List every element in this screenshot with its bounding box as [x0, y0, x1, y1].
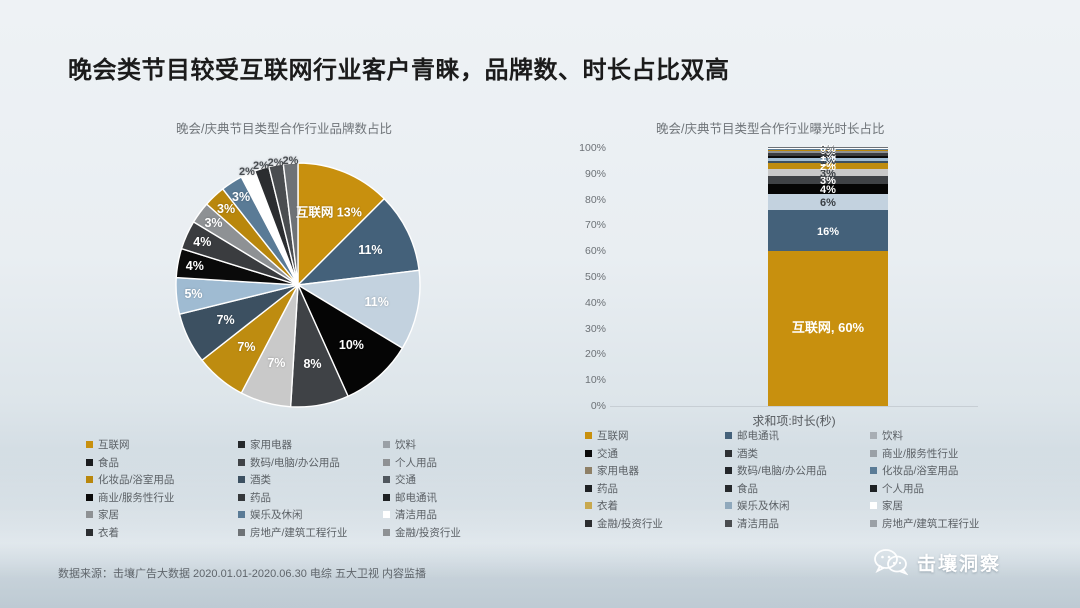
pie-slice-label: 3% — [232, 190, 250, 204]
pie-slice-label: 2% — [283, 155, 299, 167]
pie-slice-label: 5% — [184, 287, 202, 301]
pie-slice-label: 11% — [365, 295, 389, 309]
legend-swatch-icon — [725, 520, 732, 527]
legend-item[interactable]: 娱乐及休闲 — [725, 497, 870, 515]
pie-slice-label: 7% — [237, 340, 255, 354]
legend-swatch-icon — [383, 511, 390, 518]
legend-label: 家居 — [98, 507, 119, 522]
bar-y-axis: 0%10%20%30%40%50%60%70%80%90%100% — [560, 148, 606, 406]
legend-item[interactable]: 个人用品 — [383, 454, 461, 472]
legend-label: 化妆品/浴室用品 — [98, 472, 174, 487]
legend-item[interactable]: 房地产/建筑工程行业 — [870, 515, 979, 533]
legend-swatch-icon — [238, 494, 245, 501]
y-axis-tick: 60% — [566, 245, 606, 257]
pie-slice-label: 11% — [358, 243, 382, 257]
y-axis-tick: 10% — [566, 374, 606, 386]
legend-item[interactable]: 清洁用品 — [383, 506, 461, 524]
legend-item[interactable]: 饮料 — [383, 436, 461, 454]
legend-swatch-icon — [870, 467, 877, 474]
legend-swatch-icon — [585, 520, 592, 527]
legend-label: 娱乐及休闲 — [250, 507, 303, 522]
right-chart-subtitle: 晚会/庆典节目类型合作行业曝光时长占比 — [656, 118, 884, 137]
legend-item[interactable]: 数码/电脑/办公用品 — [725, 462, 870, 480]
data-source-footer: 数据来源：击壤广告大数据 2020.01.01-2020.06.30 电综 五大… — [58, 565, 426, 581]
legend-item[interactable]: 家用电器 — [238, 436, 383, 454]
legend-item[interactable]: 邮电通讯 — [383, 489, 461, 507]
legend-swatch-icon — [725, 485, 732, 492]
legend-label: 家居 — [882, 498, 903, 513]
pie-slice-label: 2% — [253, 160, 269, 172]
legend-swatch-icon — [870, 450, 877, 457]
legend-swatch-icon — [725, 467, 732, 474]
legend-item[interactable]: 娱乐及休闲 — [238, 506, 383, 524]
bar-segment-label: 互联网, 60% — [768, 317, 888, 336]
legend-item[interactable]: 食品 — [725, 480, 870, 498]
legend-swatch-icon — [86, 529, 93, 536]
bar-plot-area: 互联网, 60%16%6%4%3%3%2%1%1%1%1%1%0%0%0%0% — [610, 148, 980, 406]
legend-swatch-icon — [86, 476, 93, 483]
legend-item[interactable]: 商业/服务性行业 — [870, 445, 979, 463]
pie-slice-label: 3% — [204, 216, 222, 230]
legend-item[interactable]: 食品 — [86, 454, 238, 472]
bar-segment — [768, 147, 888, 148]
pie-slice-label: 7% — [267, 356, 285, 370]
y-axis-tick: 20% — [566, 348, 606, 360]
legend-item[interactable]: 互联网 — [585, 427, 725, 445]
legend-item[interactable]: 饮料 — [870, 427, 979, 445]
legend-label: 衣着 — [98, 525, 119, 540]
legend-swatch-icon — [725, 450, 732, 457]
y-axis-tick: 90% — [566, 168, 606, 180]
pie-slice-label: 4% — [193, 235, 211, 249]
legend-label: 食品 — [98, 455, 119, 470]
legend-item[interactable]: 酒类 — [238, 471, 383, 489]
y-axis-tick: 80% — [566, 194, 606, 206]
legend-swatch-icon — [870, 485, 877, 492]
bar-segment-label: 0% — [768, 143, 888, 155]
legend-label: 食品 — [737, 481, 758, 496]
legend-label: 清洁用品 — [737, 516, 779, 531]
legend-item[interactable]: 个人用品 — [870, 480, 979, 498]
legend-label: 房地产/建筑工程行业 — [882, 516, 979, 531]
legend-swatch-icon — [585, 502, 592, 509]
bar-legend: 互联网交通家用电器药品衣着金融/投资行业邮电通讯酒类数码/电脑/办公用品食品娱乐… — [585, 427, 979, 532]
legend-swatch-icon — [383, 529, 390, 536]
legend-column: 饮料商业/服务性行业化妆品/浴室用品个人用品家居房地产/建筑工程行业 — [870, 427, 979, 532]
pie-svg — [148, 160, 448, 410]
legend-swatch-icon — [86, 459, 93, 466]
legend-label: 酒类 — [737, 446, 758, 461]
legend-swatch-icon — [383, 459, 390, 466]
legend-swatch-icon — [238, 441, 245, 448]
legend-column: 家用电器数码/电脑/办公用品酒类药品娱乐及休闲房地产/建筑工程行业 — [238, 436, 383, 541]
legend-swatch-icon — [238, 511, 245, 518]
y-axis-tick: 100% — [566, 142, 606, 154]
legend-swatch-icon — [585, 485, 592, 492]
wechat-bubble-icon — [874, 548, 908, 576]
legend-column: 互联网交通家用电器药品衣着金融/投资行业 — [585, 427, 725, 532]
legend-item[interactable]: 家居 — [870, 497, 979, 515]
legend-swatch-icon — [383, 494, 390, 501]
legend-label: 商业/服务性行业 — [882, 446, 958, 461]
legend-swatch-icon — [870, 432, 877, 439]
legend-swatch-icon — [585, 467, 592, 474]
pie-slice-label: 8% — [303, 357, 321, 371]
pie-slice-label: 7% — [217, 313, 235, 327]
legend-item[interactable]: 衣着 — [585, 497, 725, 515]
legend-item[interactable]: 交通 — [585, 445, 725, 463]
legend-label: 酒类 — [250, 472, 271, 487]
pie-slice-label: 4% — [186, 259, 204, 273]
legend-column: 邮电通讯酒类数码/电脑/办公用品食品娱乐及休闲清洁用品 — [725, 427, 870, 532]
brand-share-pie-chart: 互联网 13%11%11%10%8%7%7%7%5%4%4%3%3%3%2%2%… — [148, 160, 448, 410]
pie-slice-label: 2% — [268, 157, 284, 169]
y-axis-tick: 0% — [566, 400, 606, 412]
legend-swatch-icon — [86, 494, 93, 501]
bar-axis-line — [610, 406, 978, 407]
legend-column: 饮料个人用品交通邮电通讯清洁用品金融/投资行业 — [383, 436, 461, 541]
legend-swatch-icon — [383, 441, 390, 448]
legend-swatch-icon — [725, 502, 732, 509]
legend-label: 邮电通讯 — [395, 490, 437, 505]
legend-item[interactable]: 交通 — [383, 471, 461, 489]
legend-item[interactable]: 家居 — [86, 506, 238, 524]
legend-label: 饮料 — [395, 437, 416, 452]
brand-name: 击壤洞察 — [917, 549, 1001, 576]
legend-label: 金融/投资行业 — [597, 516, 663, 531]
legend-label: 清洁用品 — [395, 507, 437, 522]
y-axis-tick: 70% — [566, 219, 606, 231]
legend-swatch-icon — [238, 529, 245, 536]
legend-label: 个人用品 — [882, 481, 924, 496]
legend-item[interactable]: 化妆品/浴室用品 — [870, 462, 979, 480]
bar-segment-label: 6% — [768, 197, 888, 209]
legend-label: 衣着 — [597, 498, 618, 513]
pie-legend: 互联网食品化妆品/浴室用品商业/服务性行业家居衣着家用电器数码/电脑/办公用品酒… — [86, 436, 461, 541]
legend-item[interactable]: 邮电通讯 — [725, 427, 870, 445]
brand-watermark: 击壤洞察 — [874, 548, 1001, 576]
legend-column: 互联网食品化妆品/浴室用品商业/服务性行业家居衣着 — [86, 436, 238, 541]
legend-swatch-icon — [725, 432, 732, 439]
legend-item[interactable]: 衣着 — [86, 524, 238, 542]
legend-label: 商业/服务性行业 — [98, 490, 174, 505]
legend-label: 房地产/建筑工程行业 — [250, 525, 347, 540]
legend-item[interactable]: 酒类 — [725, 445, 870, 463]
legend-item[interactable]: 互联网 — [86, 436, 238, 454]
bar-segment-label: 16% — [768, 226, 888, 238]
left-chart-subtitle: 晚会/庆典节目类型合作行业品牌数占比 — [176, 118, 392, 137]
pie-slice-label: 互联网 13% — [296, 201, 362, 220]
legend-label: 药品 — [597, 481, 618, 496]
legend-item[interactable]: 数码/电脑/办公用品 — [238, 454, 383, 472]
legend-label: 娱乐及休闲 — [737, 498, 790, 513]
legend-label: 交通 — [395, 472, 416, 487]
y-axis-tick: 50% — [566, 271, 606, 283]
legend-swatch-icon — [870, 520, 877, 527]
legend-label: 互联网 — [98, 437, 130, 452]
legend-swatch-icon — [383, 476, 390, 483]
legend-item[interactable]: 药品 — [585, 480, 725, 498]
page-title: 晚会类节目较受互联网行业客户青睐，品牌数、时长占比双高 — [68, 50, 730, 85]
legend-swatch-icon — [238, 476, 245, 483]
legend-label: 金融/投资行业 — [395, 525, 461, 540]
legend-item[interactable]: 金融/投资行业 — [585, 515, 725, 533]
legend-swatch-icon — [238, 459, 245, 466]
legend-label: 邮电通讯 — [737, 428, 779, 443]
legend-item[interactable]: 商业/服务性行业 — [86, 489, 238, 507]
legend-swatch-icon — [870, 502, 877, 509]
legend-swatch-icon — [585, 450, 592, 457]
legend-label: 饮料 — [882, 428, 903, 443]
legend-label: 数码/电脑/办公用品 — [737, 463, 827, 478]
legend-swatch-icon — [86, 511, 93, 518]
legend-label: 交通 — [597, 446, 618, 461]
legend-label: 家用电器 — [597, 463, 639, 478]
legend-label: 个人用品 — [395, 455, 437, 470]
legend-label: 药品 — [250, 490, 271, 505]
legend-item[interactable]: 家用电器 — [585, 462, 725, 480]
legend-item[interactable]: 化妆品/浴室用品 — [86, 471, 238, 489]
legend-label: 化妆品/浴室用品 — [882, 463, 958, 478]
stacked-bar: 互联网, 60%16%6%4%3%3%2%1%1%1%1%1%0%0%0%0% — [768, 148, 888, 406]
exposure-duration-bar-chart: 0%10%20%30%40%50%60%70%80%90%100% 互联网, 6… — [560, 148, 980, 428]
legend-item[interactable]: 房地产/建筑工程行业 — [238, 524, 383, 542]
legend-item[interactable]: 清洁用品 — [725, 515, 870, 533]
legend-label: 家用电器 — [250, 437, 292, 452]
y-axis-tick: 30% — [566, 323, 606, 335]
legend-swatch-icon — [585, 432, 592, 439]
legend-item[interactable]: 金融/投资行业 — [383, 524, 461, 542]
pie-slice-label: 10% — [339, 338, 364, 352]
legend-swatch-icon — [86, 441, 93, 448]
legend-label: 互联网 — [597, 428, 629, 443]
legend-label: 数码/电脑/办公用品 — [250, 455, 340, 470]
legend-item[interactable]: 药品 — [238, 489, 383, 507]
y-axis-tick: 40% — [566, 297, 606, 309]
